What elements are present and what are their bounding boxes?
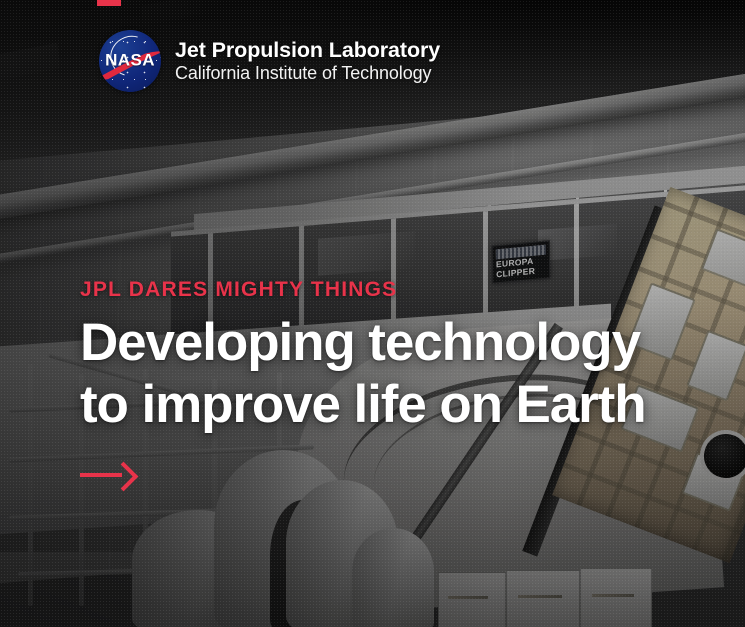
nasa-wordmark: NASA: [99, 51, 161, 71]
hero-eyebrow: JPL DARES MIGHTY THINGS: [80, 278, 646, 302]
hero-headline: Developing technology to improve life on…: [80, 312, 646, 436]
brand-line-2: California Institute of Technology: [175, 64, 440, 83]
arrow-right-icon[interactable]: [80, 462, 132, 488]
headline-line-1: Developing technology: [80, 313, 640, 372]
arrow-head: [109, 462, 139, 492]
headline-line-2: to improve life on Earth: [80, 375, 646, 434]
nasa-meatball-icon: NASA: [99, 30, 161, 92]
brand-line-1: Jet Propulsion Laboratory: [175, 39, 440, 62]
jpl-logo-link[interactable]: NASA Jet Propulsion Laboratory Californi…: [99, 30, 440, 92]
top-accent-bar: [97, 0, 121, 6]
jpl-hero-banner: EUROPA CLIPPER: [0, 0, 745, 627]
brand-text-block: Jet Propulsion Laboratory California Ins…: [175, 39, 440, 83]
hero-copy-block: JPL DARES MIGHTY THINGS Developing techn…: [80, 278, 646, 493]
